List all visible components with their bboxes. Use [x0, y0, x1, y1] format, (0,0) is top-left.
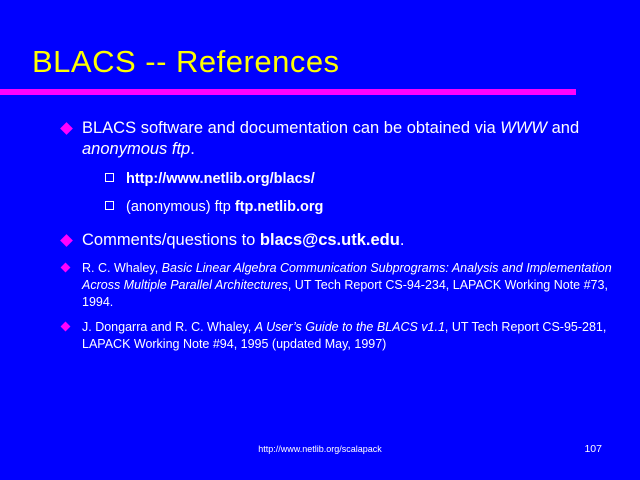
diamond-bullet-icon: [62, 323, 69, 330]
reference-text: R. C. Whaley, Basic Linear Algebra Commu…: [82, 260, 628, 311]
bullet-text: Comments/questions to blacs@cs.utk.edu.: [82, 230, 404, 251]
page-title: BLACS -- References: [32, 44, 340, 80]
diamond-bullet-icon: [62, 236, 71, 245]
ftp-host-link[interactable]: ftp.netlib.org: [235, 199, 324, 215]
bullet-item: BLACS software and documentation can be …: [0, 118, 640, 160]
content-body: BLACS software and documentation can be …: [0, 118, 640, 354]
spacer: [0, 218, 640, 230]
sub-bullet-text: http://www.netlib.org/blacs/: [126, 169, 315, 189]
slide-footer: http://www.netlib.org/scalapack 107: [0, 443, 640, 463]
title-block: BLACS -- References: [0, 44, 640, 96]
diamond-bullet-icon: [62, 124, 71, 133]
slide: BLACS -- References BLACS software and d…: [0, 0, 640, 480]
reference-item: R. C. Whaley, Basic Linear Algebra Commu…: [0, 260, 640, 311]
diamond-bullet-icon: [62, 264, 69, 271]
blacs-url-link[interactable]: http://www.netlib.org/blacs/: [126, 171, 315, 187]
title-divider: [0, 89, 576, 95]
spacer: [0, 312, 640, 319]
spacer: [0, 190, 640, 197]
page-number: 107: [584, 443, 602, 455]
spacer: [0, 253, 640, 260]
square-bullet-icon: [105, 201, 114, 210]
footer-url[interactable]: http://www.netlib.org/scalapack: [0, 443, 640, 455]
bullet-text: BLACS software and documentation can be …: [82, 118, 622, 160]
contact-email-link[interactable]: blacs@cs.utk.edu: [260, 231, 400, 249]
sub-bullet-text: (anonymous) ftp ftp.netlib.org: [126, 197, 323, 217]
reference-item: J. Dongarra and R. C. Whaley, A User’s G…: [0, 319, 640, 353]
sub-bullet-item: http://www.netlib.org/blacs/: [0, 169, 640, 189]
bullet-item: Comments/questions to blacs@cs.utk.edu.: [0, 230, 640, 251]
spacer: [0, 162, 640, 169]
square-bullet-icon: [105, 173, 114, 182]
sub-bullet-item: (anonymous) ftp ftp.netlib.org: [0, 197, 640, 217]
reference-text: J. Dongarra and R. C. Whaley, A User’s G…: [82, 319, 628, 353]
